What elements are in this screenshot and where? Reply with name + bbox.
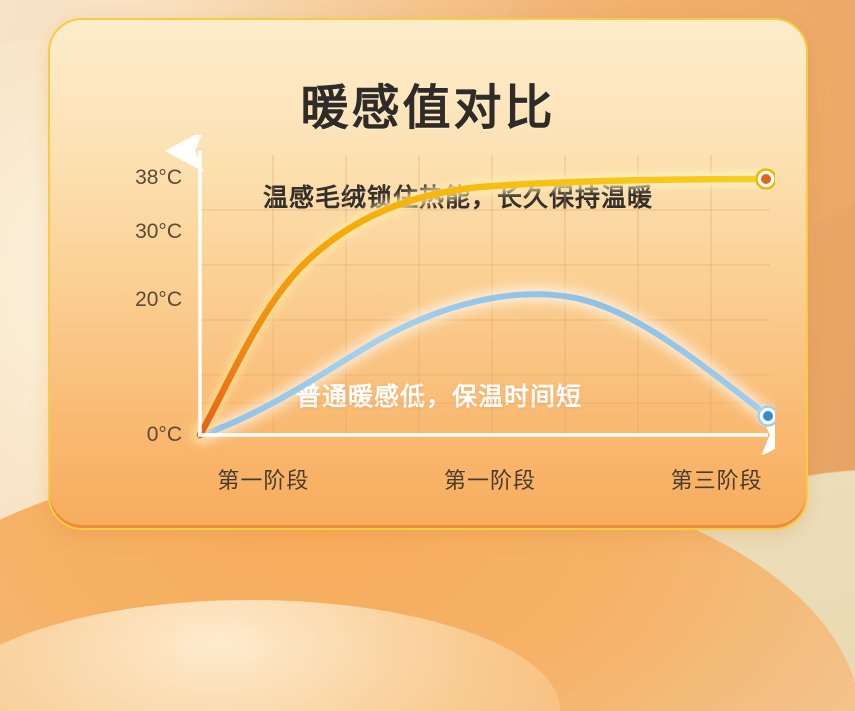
marker-warm-endpoint xyxy=(755,168,775,190)
series-normal-glow xyxy=(202,294,768,435)
page-title: 暖感值对比 xyxy=(50,68,806,138)
chart-card: 暖感值对比 温感毛绒锁住热能，长久保持温暖 普通暖感低，保温时间短 0°C20°… xyxy=(48,18,808,530)
chart-plot-area xyxy=(150,135,775,455)
page-root: 暖感值对比 温感毛绒锁住热能，长久保持温暖 普通暖感低，保温时间短 0°C20°… xyxy=(0,0,855,711)
chart-svg xyxy=(150,135,775,455)
series-normal-line xyxy=(202,294,768,435)
x-axis-tick-label: 第三阶段 xyxy=(603,463,808,495)
x-axis-tick-label: 第一阶段 xyxy=(377,463,604,495)
x-axis-tick-label: 第一阶段 xyxy=(150,463,377,495)
x-axis-labels: 第一阶段第一阶段第三阶段 xyxy=(150,463,808,495)
